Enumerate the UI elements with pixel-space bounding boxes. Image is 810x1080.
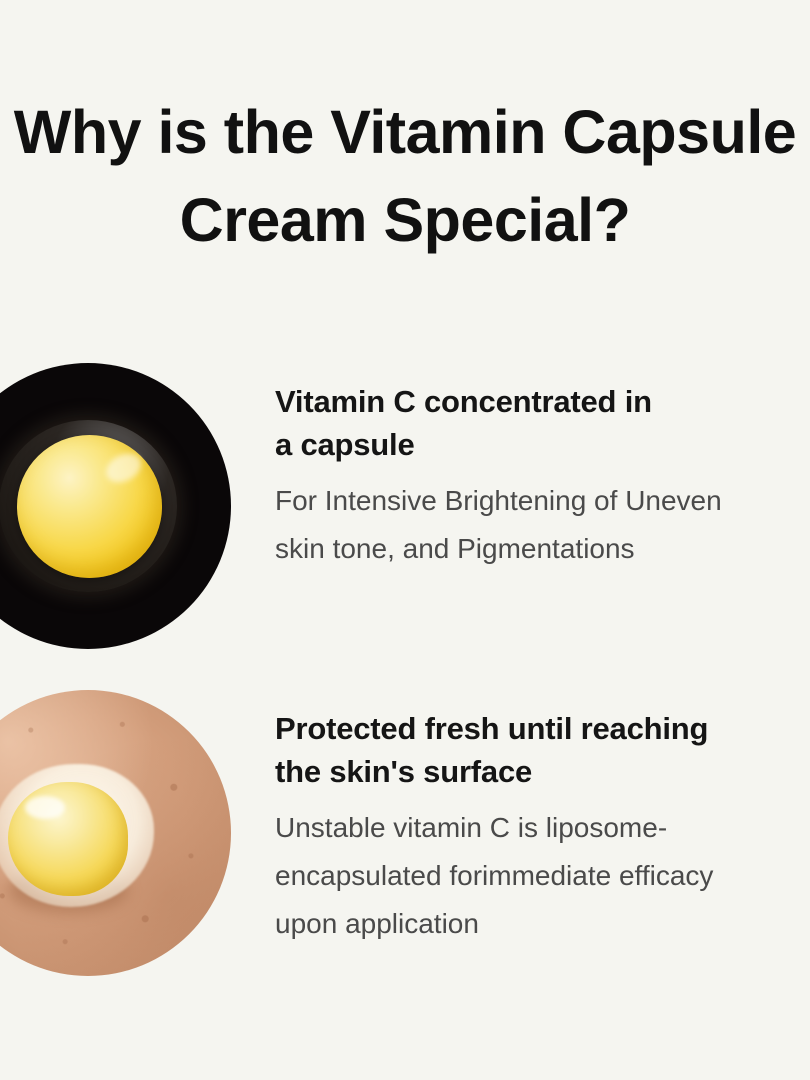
page-title-line-2: Cream Special? — [0, 176, 810, 264]
feature-text-block: Protected fresh until reaching the skin'… — [275, 690, 810, 948]
page-title-text: Why is the Vitamin Capsule Cream Special… — [0, 88, 810, 264]
capsule-highlight-shape — [25, 796, 65, 819]
page-title-line-1: Why is the Vitamin Capsule — [14, 98, 796, 166]
capsule-on-skin-photo — [0, 690, 231, 976]
capsule-core-shape — [8, 782, 128, 896]
feature-title: Protected fresh until reaching the skin'… — [275, 707, 810, 793]
capsule-core-shape — [17, 435, 163, 578]
feature-text-block: Vitamin C concentrated in a capsule For … — [275, 363, 810, 573]
product-detail-page: Why is the Vitamin Capsule Cream Special… — [0, 0, 810, 1080]
page-title: Why is the Vitamin Capsule Cream Special… — [0, 88, 810, 264]
feature-description: For Intensive Brightening of Uneven skin… — [275, 477, 810, 573]
feature-row-vitamin-c-capsule: Vitamin C concentrated in a capsule For … — [0, 363, 810, 649]
vitamin-capsule-on-black-photo — [0, 363, 231, 649]
feature-row-protected-fresh: Protected fresh until reaching the skin'… — [0, 690, 810, 976]
feature-description: Unstable vitamin C is liposome- encapsul… — [275, 804, 810, 948]
feature-title: Vitamin C concentrated in a capsule — [275, 380, 810, 466]
